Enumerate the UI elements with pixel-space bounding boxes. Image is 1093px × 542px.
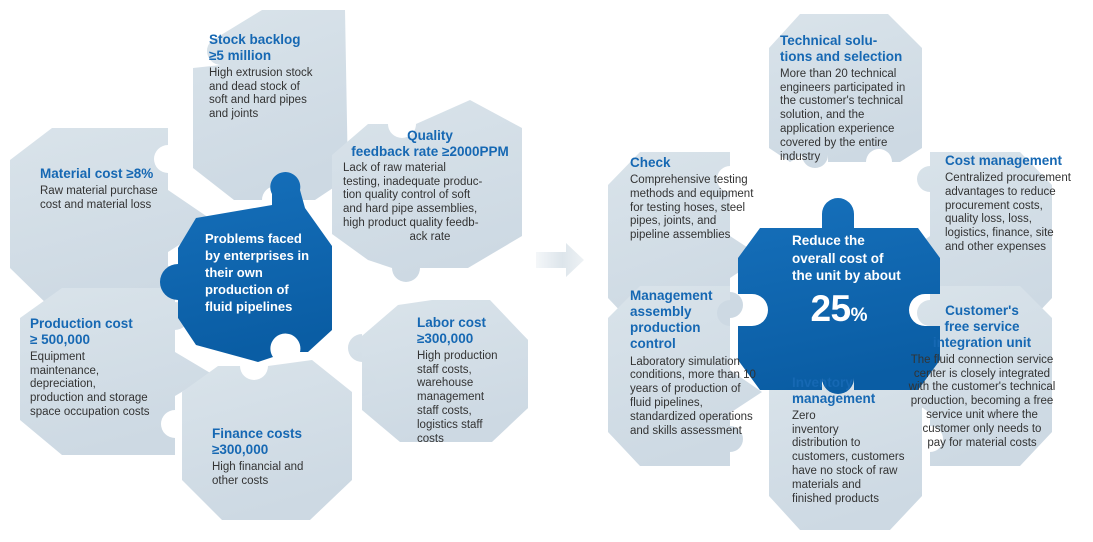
piece-heading: Labor cost ≥300,000 bbox=[417, 315, 527, 347]
piece-cost-management-text: Cost management Centralized procurement … bbox=[945, 153, 1093, 255]
piece-body: High production staff costs, warehouse m… bbox=[417, 350, 527, 447]
piece-heading: Quality feedback rate ≥2000PPM bbox=[343, 128, 517, 160]
piece-production-cost-text: Production cost ≥ 500,000 Equipment main… bbox=[30, 316, 200, 420]
core-percentage-right: 25% bbox=[738, 290, 940, 327]
piece-heading: Cost management bbox=[945, 153, 1093, 169]
piece-body: Raw material purchase cost and material … bbox=[40, 185, 200, 213]
piece-body: High extrusion stock and dead stock of s… bbox=[209, 67, 349, 122]
piece-quality-feedback-text: Quality feedback rate ≥2000PPM Lack of r… bbox=[343, 128, 517, 245]
piece-technical-solutions-text: Technical solu- tions and selection More… bbox=[780, 33, 930, 164]
core-percentage-unit: % bbox=[851, 305, 868, 326]
right-arrow-icon bbox=[536, 243, 584, 277]
piece-labor-cost-text: Labor cost ≥300,000 High production staf… bbox=[417, 315, 527, 446]
core-percentage-value: 25 bbox=[810, 288, 850, 329]
piece-inventory-management-text: Inventory management Zero inventory dist… bbox=[792, 375, 922, 506]
piece-heading: Stock backlog ≥5 million bbox=[209, 32, 349, 64]
piece-heading: Material cost ≥8% bbox=[40, 166, 200, 182]
core-label-left: Problems faced by enterprises in their o… bbox=[205, 231, 330, 315]
piece-body: Equipment maintenance, depreciation, pro… bbox=[30, 351, 200, 420]
piece-body: Laboratory simulation conditions, more t… bbox=[630, 356, 790, 439]
piece-body: The fluid connection service center is c… bbox=[897, 354, 1067, 451]
piece-body: Zero inventory distribution to customers… bbox=[792, 410, 922, 507]
piece-body: Centralized procurement advantages to re… bbox=[945, 172, 1093, 255]
piece-heading: Technical solu- tions and selection bbox=[780, 33, 930, 65]
piece-heading: Finance costs ≥300,000 bbox=[212, 426, 352, 458]
piece-body: More than 20 technical engineers partici… bbox=[780, 68, 930, 165]
piece-body: High financial and other costs bbox=[212, 461, 352, 489]
piece-body: Comprehensive testing methods and equipm… bbox=[630, 174, 786, 243]
piece-finance-costs-text: Finance costs ≥300,000 High financial an… bbox=[212, 426, 352, 488]
piece-heading: Production cost ≥ 500,000 bbox=[30, 316, 200, 348]
infographic-stage: Stock backlog ≥5 million High extrusion … bbox=[0, 0, 1093, 542]
piece-heading: Check bbox=[630, 155, 786, 171]
piece-check-text: Check Comprehensive testing methods and … bbox=[630, 155, 786, 243]
piece-body: Lack of raw material testing, inadequate… bbox=[343, 162, 517, 245]
piece-material-cost-text: Material cost ≥8% Raw material purchase … bbox=[40, 166, 200, 213]
piece-heading: Inventory management bbox=[792, 375, 922, 407]
piece-stock-backlog-text: Stock backlog ≥5 million High extrusion … bbox=[209, 32, 349, 122]
core-label-right: Reduce the overall cost of the unit by a… bbox=[792, 232, 932, 285]
